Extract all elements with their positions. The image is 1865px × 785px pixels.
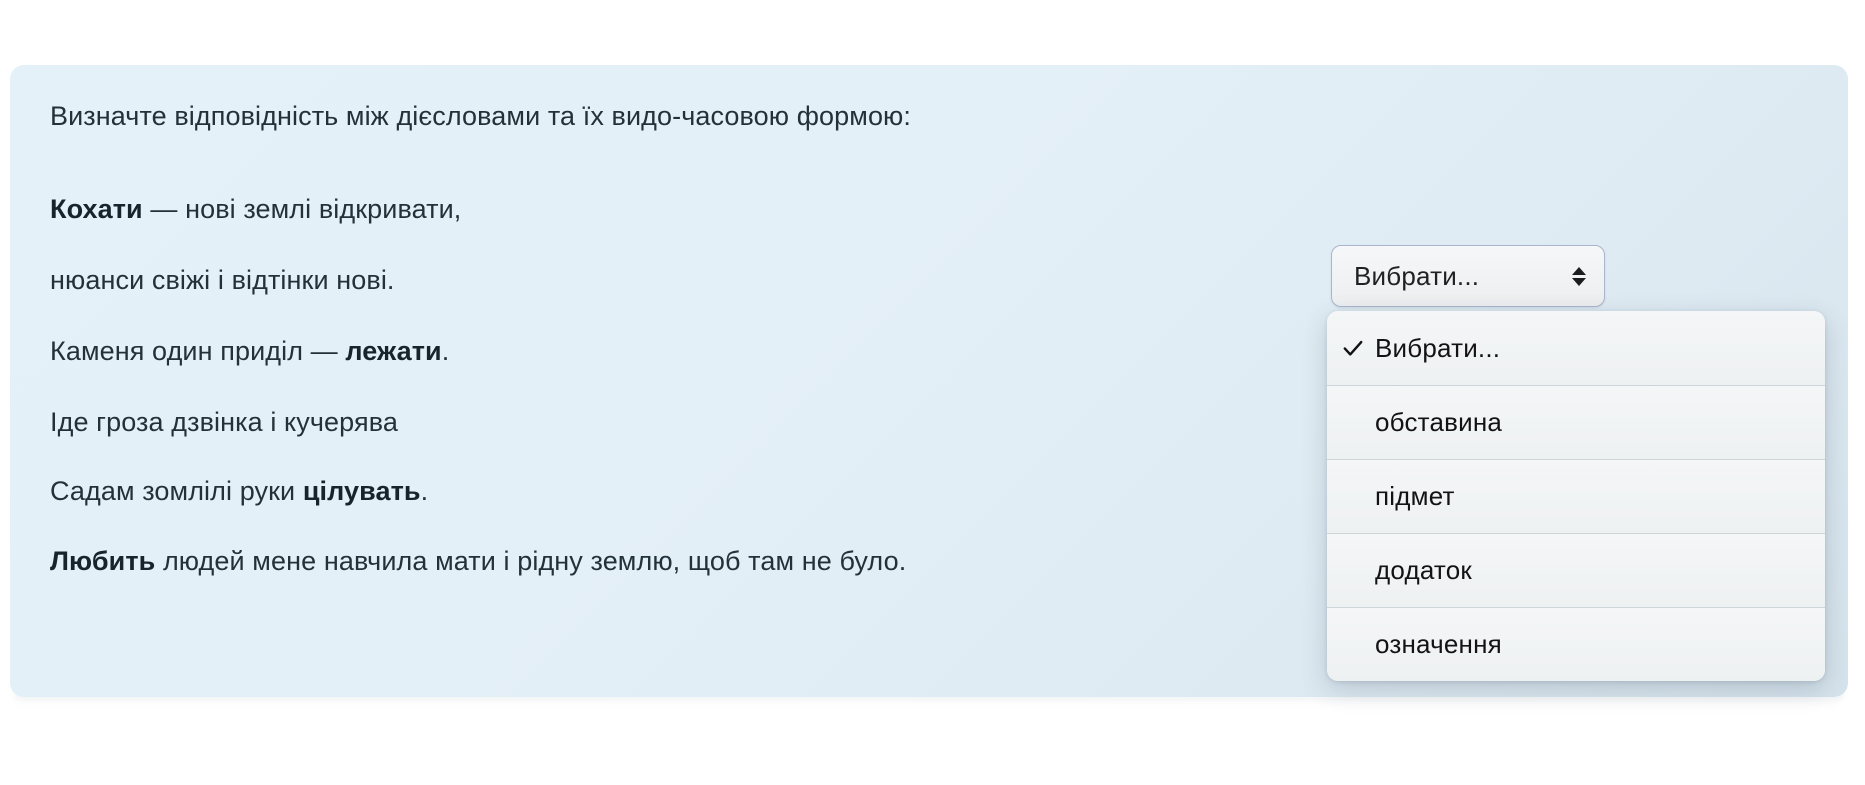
poem-line-3-pre: Каменя один приділ — [50,336,345,366]
dropdown-option-label: Вибрати... [1375,333,1500,364]
dropdown-option-obstavyna[interactable]: обставина [1327,385,1825,459]
check-icon [1342,337,1364,359]
dropdown-option-pidmet[interactable]: підмет [1327,459,1825,533]
answer-select-value: Вибрати... [1354,261,1479,292]
dropdown-option-label: обставина [1375,407,1502,438]
dropdown-option-label: підмет [1375,481,1455,512]
poem-line-1-rest: — нові землі відкривати, [143,194,462,224]
answer-select-trigger[interactable]: Вибрати... [1331,245,1605,307]
poem-line-3-bold: лежати [345,336,441,366]
poem-line-1: Кохати — нові землі відкривати, [50,192,1808,227]
poem-line-1-bold: Кохати [50,194,143,224]
up-down-arrows-icon [1572,267,1586,286]
poem-line-5-post: . [421,476,429,506]
poem-line-5-bold: цілувать [303,476,421,506]
question-prompt: Визначте відповідність між дієсловами та… [50,99,1808,134]
answer-select-dropdown[interactable]: Вибрати... обставина підмет додаток озна… [1327,311,1825,681]
dropdown-option-oznachennia[interactable]: означення [1327,607,1825,681]
dropdown-option-dodatok[interactable]: додаток [1327,533,1825,607]
poem-line-6-rest: людей мене навчила мати і рідну землю, щ… [155,546,906,576]
poem-line-5-pre: Садам зомлілі руки [50,476,303,506]
dropdown-option-label: додаток [1375,555,1472,586]
poem-line-6-bold: Любить [50,546,155,576]
dropdown-option-label: означення [1375,629,1502,660]
dropdown-option-vybraty[interactable]: Вибрати... [1327,311,1825,385]
poem-line-3-post: . [442,336,450,366]
